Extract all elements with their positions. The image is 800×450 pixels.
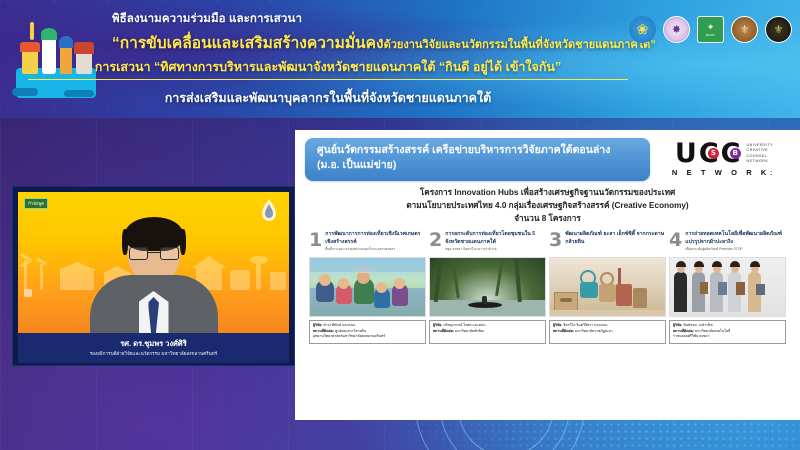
project-title: พัฒนาผลิตภัณฑ์ ยะลา เอ็กซ์ซิตี้ จากกระดา…: [565, 231, 666, 246]
banner-line-3: การเสวนา “ทิศทางการบริหารและพัฒนาจังหวัด…: [28, 57, 628, 80]
ucc-colon: :: [770, 168, 776, 177]
project-column: 3 พัฒนาผลิตภัณฑ์ ยะลา เอ็กซ์ซิตี้ จากกระ…: [549, 231, 666, 344]
project-header: 4 การถ่ายทอดเทคโนโลยีเพื่อพัฒนาผลิตภัณฑ์…: [669, 231, 786, 255]
project-title-block: การยกระดับการท่องเที่ยวโดยชุมชนใน 5 จังห…: [445, 231, 546, 252]
slide-content: ศูนย์นวัตกรรมสร้างสรรค์ เครือข่ายบริหารก…: [295, 130, 800, 344]
project-columns: 1 การพัฒนาการการท่องเที่ยวเชิงนิเวศเกษตร…: [305, 231, 790, 344]
project-column: 2 การยกระดับการท่องเที่ยวโดยชุมชนใน 5 จั…: [429, 231, 546, 344]
ucc-sub-lines: UNIVERSITY CREATIVE COUNSEL NETWORK: [747, 143, 774, 165]
banner-line-2: “การขับเคลื่อนและเสริมสร้างความมั่นคงด้ว…: [112, 30, 632, 55]
university-seal-logo: ✸: [663, 16, 690, 43]
banner-line-2-main: “การขับเคลื่อนและเสริมสร้างความมั่นคง: [112, 35, 384, 52]
speaker-figure: [90, 221, 218, 333]
credit-extra: ราชมงคลศรีวิชัย สงขลา: [673, 334, 782, 339]
slide-subtitle: โครงการ Innovation Hubs เพื่อสร้างเศรษฐก…: [305, 186, 790, 225]
partner-logos: ❀ ✸ ✦ ศอ.บต. ⚜ ⚜: [629, 16, 792, 43]
project-title: การพัฒนาการการท่องเที่ยวเชิงนิเวศเกษตรเช…: [325, 231, 426, 246]
ucc-letter-c2: CB: [721, 140, 741, 167]
ucc-network-text: N E T W O R K:: [672, 168, 776, 177]
project-title-block: การถ่ายทอดเทคโนโลยีเพื่อพัฒนาผลิตภัณฑ์แป…: [685, 231, 786, 252]
banner-line-2-small: ด้วยงานวิจัยและนวัตกรรมในพื้นที่จังหวัดช…: [384, 39, 656, 51]
banner-text-block: พิธีลงนามความร่วมมือ และการเสวนา “การขับ…: [112, 10, 632, 55]
video-feed: กำลังพูด: [18, 192, 289, 333]
project-title-block: การพัฒนาการการท่องเที่ยวเชิงนิเวศเกษตรเช…: [325, 231, 426, 252]
children-eco-tourism-photo: [309, 257, 426, 317]
slide-bottom-margin: [295, 398, 800, 420]
credit-place: สถานที่ติดต่อ: มหาวิทยาลัยทักษิณ: [433, 329, 542, 334]
project-subtitle: เพื่อยกระดับสู่ผลิตภัณฑ์ Premium OTOP: [685, 247, 786, 252]
project-column: 4 การถ่ายทอดเทคโนโลยีเพื่อพัฒนาผลิตภัณฑ์…: [669, 231, 786, 344]
project-header: 1 การพัฒนาการการท่องเที่ยวเชิงนิเวศเกษตร…: [309, 231, 426, 255]
slide-title: ศูนย์นวัตกรรมสร้างสรรค์ เครือข่ายบริหารก…: [305, 138, 650, 181]
ucc-letters-row: U CS CB UNIVERSITY CREATIVE COUNSEL NETW…: [675, 140, 773, 167]
project-title: การถ่ายทอดเทคโนโลยีเพื่อพัฒนาผลิตภัณฑ์แป…: [685, 231, 786, 246]
speaker-name: รศ. ดร.ชุมพร วงศ์ศิริ: [120, 338, 186, 350]
mangrove-boat-photo: [429, 257, 546, 317]
project-header: 2 การยกระดับการท่องเที่ยวโดยชุมชนใน 5 จั…: [429, 231, 546, 255]
fashion-batik-models-photo: [669, 257, 786, 317]
royal-emblem-logo: ❀: [629, 16, 656, 43]
speaker-suit: [90, 275, 218, 333]
microphone-icon: [24, 289, 32, 297]
project-credit: ผู้วิจัย: ดำรง ศิทักษ์ และคณะ สถานที่ติด…: [309, 320, 426, 344]
speaker-head: [128, 221, 180, 283]
speaking-status-badge: กำลังพูด: [24, 198, 48, 209]
banner-line-1: พิธีลงนามความร่วมมือ และการเสวนา: [112, 10, 632, 28]
project-header: 3 พัฒนาผลิตภัณฑ์ ยะลา เอ็กซ์ซิตี้ จากกระ…: [549, 231, 666, 255]
ucc-badge-b: B: [730, 148, 741, 159]
project-number: 4: [669, 231, 682, 249]
project-credit: ผู้วิจัย: จิตรวิไล จินตวิจิตรา และคณะ สถ…: [549, 320, 666, 344]
project-title-block: พัฒนาผลิตภัณฑ์ ยะลา เอ็กซ์ซิตี้ จากกระดา…: [565, 231, 666, 247]
project-number: 2: [429, 231, 442, 249]
project-column: 1 การพัฒนาการการท่องเที่ยวเชิงนิเวศเกษตร…: [309, 231, 426, 344]
speaker-video-panel[interactable]: กำลังพูด รศ. ดร.ชุมพร วงศ์ศิริ รองอธิการ…: [12, 186, 295, 366]
slide-header-row: ศูนย์นวัตกรรมสร้างสรรค์ เครือข่ายบริหารก…: [305, 138, 790, 181]
speaker-title: รองอธิการบดีฝ่ายวิจัยและนวัตกรรม มหาวิทย…: [90, 351, 218, 358]
credit-extra: อุทยานวิทยาศาสตร์มหาวิทยาลัยสงขลานครินทร…: [313, 334, 422, 339]
presentation-slide[interactable]: ศูนย์นวัตกรรมสร้างสรรค์ เครือข่ายบริหารก…: [295, 130, 800, 420]
brown-garuda-logo: ⚜: [731, 16, 758, 43]
green-logo-label: ศอ.บต.: [706, 33, 715, 38]
subtitle-line-2: ตามนโยบายประเทศไทย 4.0 กลุ่มเรื่องเศรษฐก…: [305, 199, 790, 212]
subtitle-line-1: โครงการ Innovation Hubs เพื่อสร้างเศรษฐก…: [305, 186, 790, 199]
speaker-hair: [125, 217, 183, 251]
ucc-network-logo: U CS CB UNIVERSITY CREATIVE COUNSEL NETW…: [658, 138, 790, 177]
speaker-glasses: [129, 247, 179, 260]
green-certificate-logo: ✦ ศอ.บต.: [697, 16, 724, 43]
project-number: 3: [549, 231, 562, 249]
project-subtitle: สตูล สงขลา ปัตตานี ยะลา นราธิวาส: [445, 247, 546, 252]
banana-paper-bags-photo: [549, 257, 666, 317]
project-number: 1: [309, 231, 322, 249]
project-subtitle: พื้นที่เกาะยอ และชุมชนรอบลุ่มน้ำทะเลสาบส…: [325, 247, 426, 252]
black-garuda-logo: ⚜: [765, 16, 792, 43]
ucc-badge-s: S: [708, 148, 719, 159]
banner-line-4: การส่งเสริมและพัฒนาบุคลากรในพื้นที่จังหว…: [28, 88, 628, 108]
credit-place: สถานที่ติดต่อ: มหาวิทยาลัยราชภัฏยะลา: [553, 329, 662, 334]
project-credit: ผู้วิจัย: ปรัชญาภรณ์ โกศล และคณะ สถานที่…: [429, 320, 546, 344]
subtitle-line-3: จำนวน 8 โครงการ: [305, 212, 790, 225]
ucc-letter-c1: CS: [699, 140, 719, 167]
ucc-letter-u: U: [675, 140, 697, 167]
event-banner: พิธีลงนามความร่วมมือ และการเสวนา “การขับ…: [0, 0, 800, 118]
speaker-name-caption: รศ. ดร.ชุมพร วงศ์ศิริ รองอธิการบดีฝ่ายวิ…: [18, 333, 289, 363]
project-credit: ผู้วิจัย: ชันย์ชนก วงษ์วานิช สถานที่ติดต…: [669, 320, 786, 344]
project-title: การยกระดับการท่องเที่ยวโดยชุมชนใน 5 จังห…: [445, 231, 546, 246]
psu-logo: [258, 198, 280, 226]
